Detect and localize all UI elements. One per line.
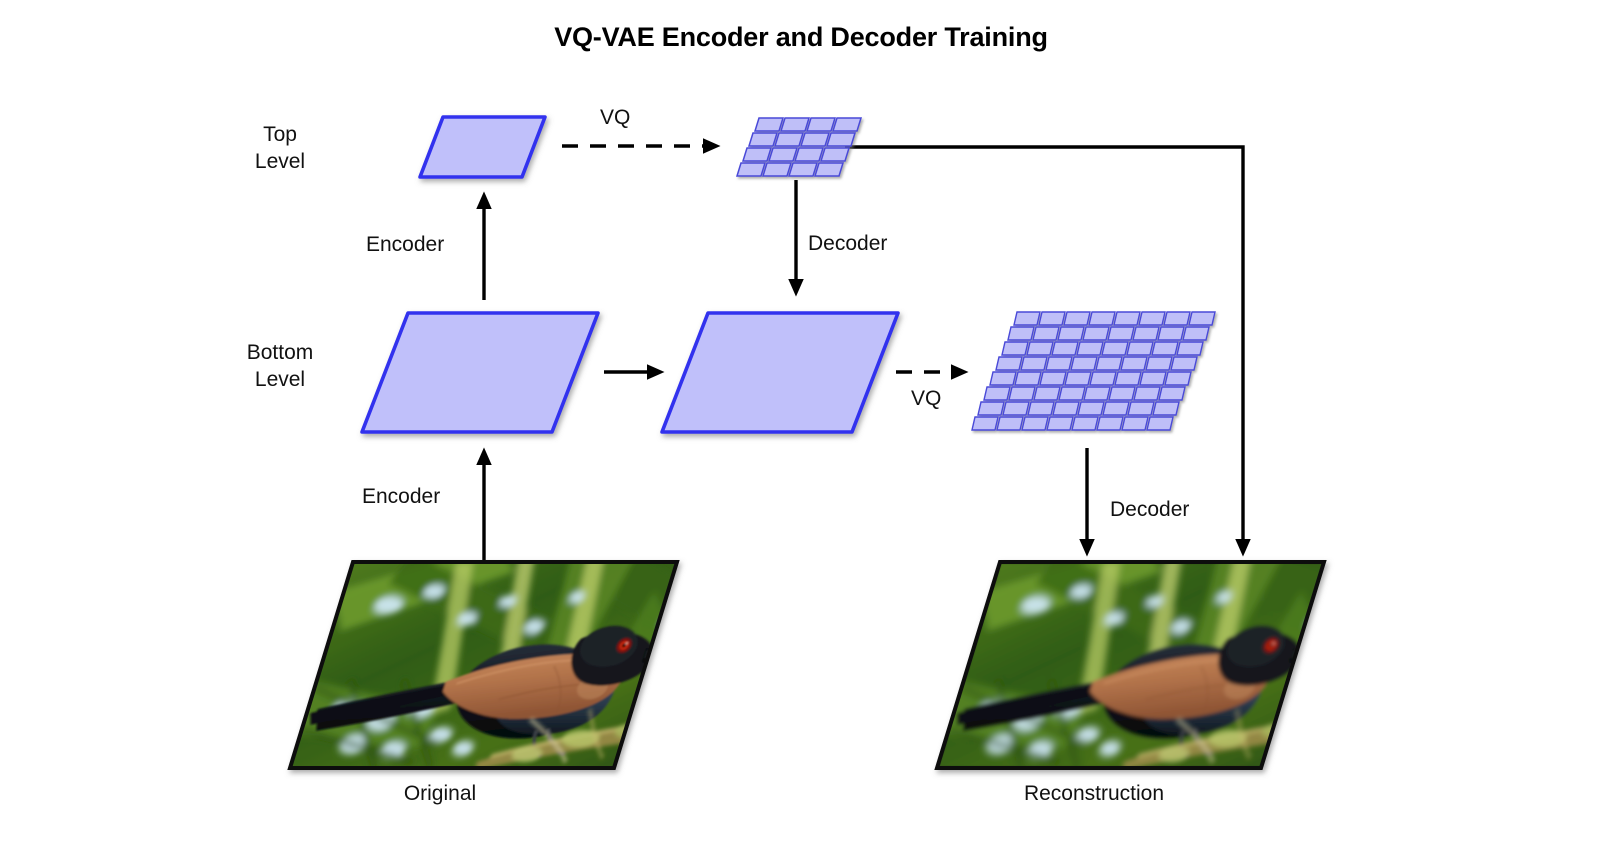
bottom-quantized-grid	[972, 312, 1215, 430]
diagram-canvas: VQ-VAE Encoder and Decoder Training	[0, 0, 1602, 846]
original-image	[280, 542, 735, 770]
shapes-layer	[0, 0, 1602, 846]
bottom-latent-plane	[362, 313, 598, 432]
top-quantized-grid	[737, 118, 861, 176]
bottom-decoded-plane	[662, 313, 898, 432]
top-latent-plane	[420, 117, 545, 177]
reconstruction-image	[927, 542, 1382, 770]
